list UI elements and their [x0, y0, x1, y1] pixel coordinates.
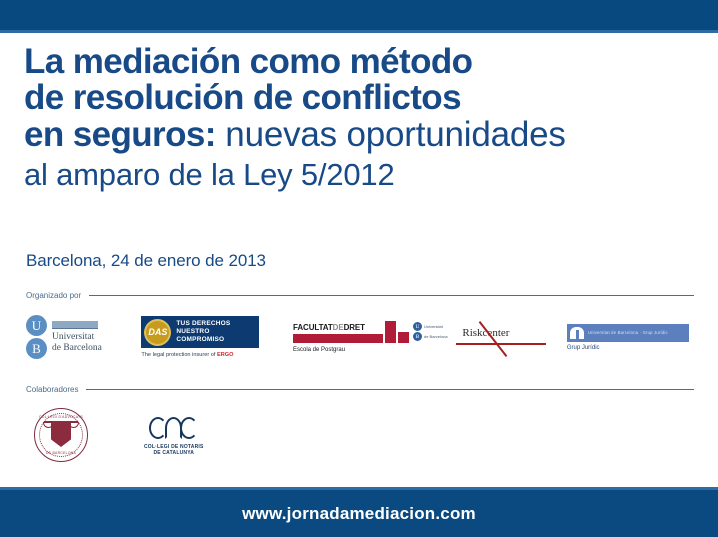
logo-riskcenter: Riskcenter — [454, 306, 566, 368]
facultat-title-bold-2: DRET — [344, 323, 365, 332]
ub-name-line-1: Universitat — [52, 332, 102, 343]
das-footer-text: The legal protection insurer of ERGO — [141, 352, 233, 358]
logo-grup-juridic: Universitat de Barcelona · Grup Jurídic … — [567, 306, 694, 368]
facultat-ub-text-2: de Barcelona — [424, 334, 448, 339]
icab-text-bottom: DE BARCELONA — [35, 451, 87, 455]
riskcenter-horizontal-line-icon — [456, 343, 546, 345]
title-line-4: al amparo de la Ley 5/2012 — [24, 154, 694, 196]
das-footer-prefix: The legal protection insurer of — [141, 352, 217, 358]
section-label-colaboradores: Colaboradores — [26, 385, 86, 394]
section-rule-colaboradores — [86, 389, 694, 390]
facultat-red-bar — [293, 334, 383, 343]
grup-juridic-label: Grup Jurídic — [567, 345, 689, 351]
cnc-name-line-1: COL·LEGI DE NOTARIS — [144, 444, 204, 450]
cnc-monogram-icon — [149, 415, 198, 441]
logo-colegio-abogados-barcelona: COL·LEGI D'ADVOCATS DE BARCELONA — [26, 404, 144, 466]
facultat-subtitle: Escola de Postgrau — [293, 347, 448, 353]
logo-universitat-de-barcelona: U B Universitat de Barcelona — [26, 306, 141, 368]
ub-letter-u: U — [26, 315, 47, 336]
das-claim-line-2: NUESTRO COMPROMISO — [176, 328, 259, 344]
organizer-logo-row: U B Universitat de Barcelona DAS TUS DER… — [26, 306, 694, 368]
section-header-organizado: Organizado por — [26, 291, 694, 300]
facultat-ub-b: B — [413, 332, 422, 341]
title-line-3-rest: nuevas oportunidades — [216, 115, 566, 154]
event-date-location: Barcelona, 24 de enero de 2013 — [26, 251, 266, 271]
facultat-title-thin: DE — [333, 323, 344, 332]
grup-juridic-mark-icon — [570, 327, 584, 339]
title-line-3: en seguros: nuevas oportunidades — [24, 116, 694, 154]
das-seal-icon: DAS — [144, 319, 171, 346]
logo-das: DAS TUS DERECHOS NUESTRO COMPROMISO The … — [141, 306, 293, 368]
title-line-2: de resolución de conflictos — [24, 80, 694, 116]
facultat-title-bold-1: FACULTAT — [293, 323, 333, 332]
facultat-ub-u: U — [413, 322, 422, 331]
facultat-ub-text-1: Universitat — [424, 324, 443, 329]
top-brand-rule — [0, 30, 718, 33]
das-footer-brand: ERGO — [217, 352, 233, 358]
ub-name-line-2: de Barcelona — [52, 343, 102, 354]
logo-facultat-de-dret: FACULTATDEDRET U Universitat B de Barcel… — [293, 306, 454, 368]
title-line-3-bold: en seguros: — [24, 115, 216, 154]
logo-colegio-notarios-catalunya: COL·LEGI DE NOTARIS DE CATALUNYA — [144, 404, 304, 466]
facultat-title: FACULTATDEDRET — [293, 323, 383, 332]
top-brand-band — [0, 0, 718, 30]
grup-juridic-bar-text: Universitat de Barcelona · Grup Jurídic — [584, 330, 668, 335]
facultat-red-blocks-icon — [385, 321, 409, 343]
collaborator-logo-row: COL·LEGI D'ADVOCATS DE BARCELONA COL·LEG… — [26, 404, 694, 466]
page-title: La mediación como método de resolución d… — [24, 44, 694, 196]
title-line-1: La mediación como método — [24, 44, 694, 80]
das-claim-line-1: TUS DERECHOS — [176, 320, 259, 328]
section-label-organizado: Organizado por — [26, 291, 89, 300]
section-header-colaboradores: Colaboradores — [26, 385, 694, 394]
ub-letter-b: B — [26, 338, 47, 359]
website-url[interactable]: www.jornadamediacion.com — [0, 490, 718, 537]
icab-text-top: COL·LEGI D'ADVOCATS — [35, 415, 87, 419]
icab-scales-icon — [44, 421, 78, 423]
section-rule-organizado — [89, 295, 694, 296]
cnc-name-line-2: DE CATALUNYA — [144, 450, 204, 456]
ub-skyline-icon — [52, 321, 98, 329]
facultat-ub-mark: U Universitat B de Barcelona — [413, 322, 448, 341]
